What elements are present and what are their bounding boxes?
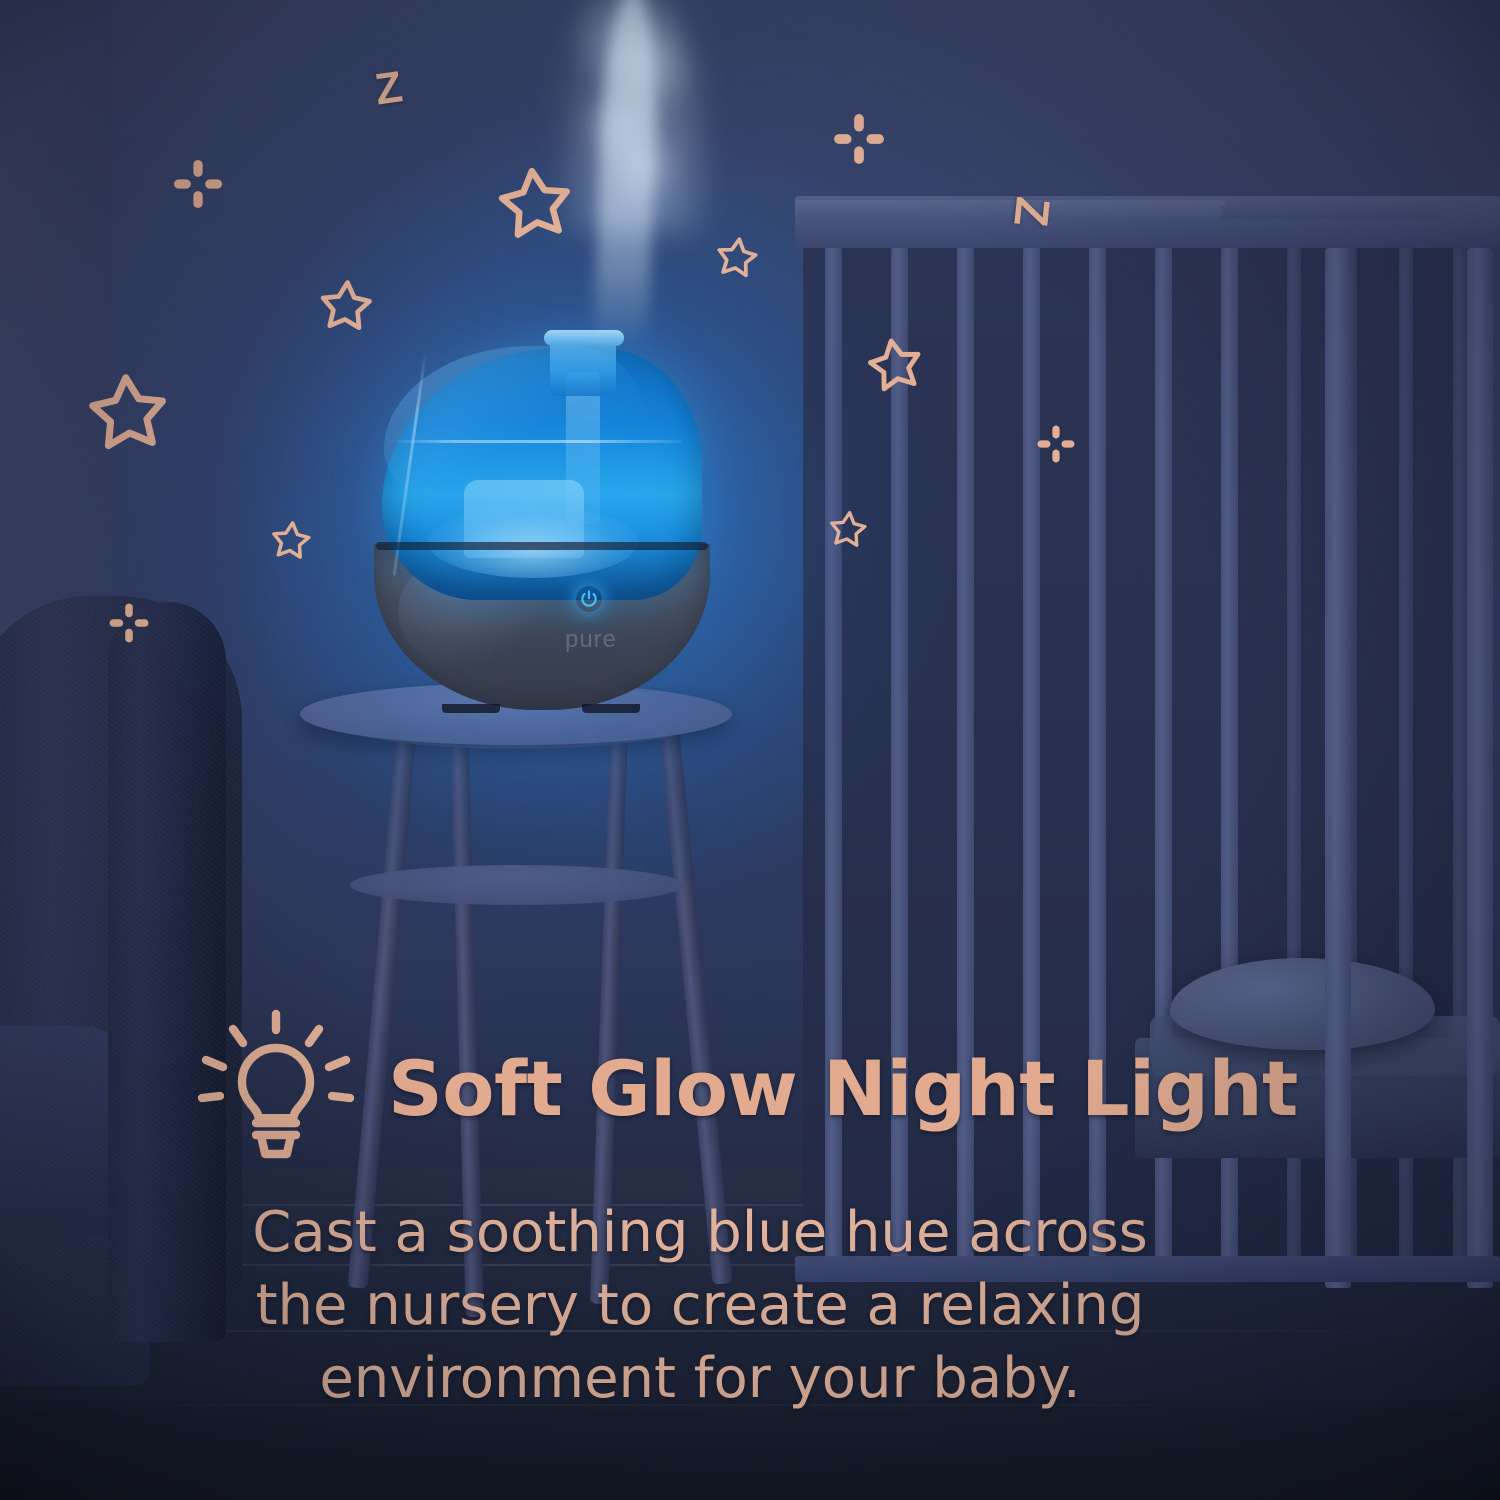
lightbulb-icon bbox=[196, 1002, 356, 1170]
power-button-icon[interactable] bbox=[576, 586, 602, 612]
baby-crib bbox=[795, 196, 1500, 1336]
description-line-3: environment for your baby. bbox=[150, 1342, 1250, 1415]
product-lifestyle-image: pure ZZ Soft Glow Night Light Cast a bbox=[0, 0, 1500, 1500]
page-title: Soft Glow Night Light bbox=[388, 1047, 1348, 1131]
humidifier-product: pure bbox=[368, 330, 718, 712]
rug bbox=[0, 1400, 1500, 1500]
description-text: Cast a soothing blue hue across the nurs… bbox=[150, 1196, 1250, 1415]
brand-logo: pure bbox=[536, 626, 646, 654]
description-line-2: the nursery to create a relaxing bbox=[150, 1269, 1250, 1342]
description-line-1: Cast a soothing blue hue across bbox=[150, 1196, 1250, 1269]
